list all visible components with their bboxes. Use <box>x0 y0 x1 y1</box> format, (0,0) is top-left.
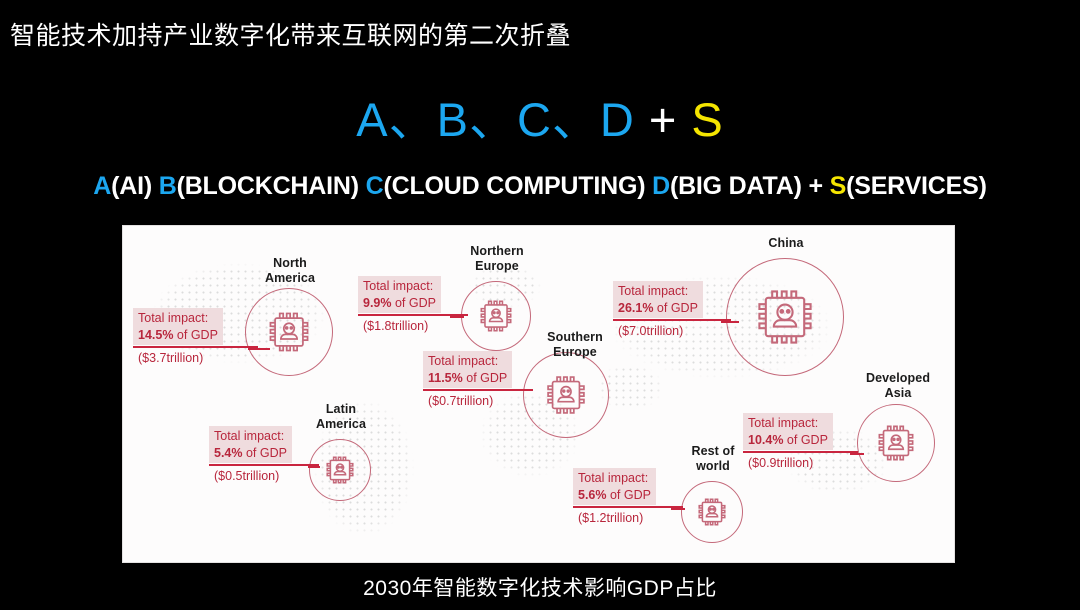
callout-pct: 9.9% <box>363 296 392 310</box>
chart-caption: 2030年智能数字化技术影响GDP占比 <box>0 572 1080 602</box>
callout-pct-suffix: of GDP <box>173 328 217 342</box>
expansion-letter-d: D <box>652 172 670 200</box>
callout-pct: 11.5% <box>428 371 463 385</box>
bubble-northern-europe[interactable] <box>461 281 531 351</box>
bubble-developed-asia[interactable] <box>857 404 935 482</box>
connector-rest-of-world <box>671 508 685 510</box>
callout-northern-europe[interactable]: Total impact: 9.9% of GDP ($1.8trillion) <box>358 276 468 333</box>
headline-abcds: A、B、C、D + S <box>0 96 1080 143</box>
expansion-letter-c: C <box>366 172 384 200</box>
callout-metric-label: Total impact: <box>428 354 498 368</box>
expansion-letter-s: S <box>830 172 846 200</box>
page-title: 智能技术加持产业数字化带来互联网的第二次折叠 <box>10 16 571 52</box>
callout-value: ($0.9trillion) <box>743 456 858 470</box>
callout-rule <box>573 506 683 508</box>
bubble-southern-europe[interactable] <box>523 352 609 438</box>
headline-sep-3: 、 <box>552 93 600 146</box>
callout-rule <box>133 346 258 348</box>
callout-metric-label: Total impact: <box>138 311 208 325</box>
headline-letter-d: D <box>600 93 635 146</box>
connector-north-america <box>248 348 270 350</box>
chip-icon <box>260 303 318 361</box>
region-label-developed-asia: Developed Asia <box>851 371 945 401</box>
callout-value: ($0.5trillion) <box>209 469 319 483</box>
callout-value: ($1.2trillion) <box>573 511 683 525</box>
headline-letter-b: B <box>437 93 469 146</box>
headline-letter-c: C <box>517 93 552 146</box>
headline-sep-1: 、 <box>389 93 437 146</box>
headline-sep-2: 、 <box>469 93 517 146</box>
callout-metric: Total impact: 5.4% of GDP <box>209 426 292 463</box>
callout-latin-america[interactable]: Total impact: 5.4% of GDP ($0.5trillion) <box>209 426 319 483</box>
callout-metric: Total impact: 26.1% of GDP <box>613 281 703 318</box>
callout-value: ($3.7trillion) <box>133 351 258 365</box>
callout-value: ($0.7trillion) <box>423 394 533 408</box>
chip-icon <box>745 277 825 357</box>
callout-southern-europe[interactable]: Total impact: 11.5% of GDP ($0.7trillion… <box>423 351 533 408</box>
bubble-rest-of-world[interactable] <box>681 481 743 543</box>
connector-northern-europe <box>450 316 464 318</box>
connector-china <box>721 321 739 323</box>
bubble-north-america[interactable] <box>245 288 333 376</box>
expansion-text-a: (AI) <box>111 172 152 200</box>
callout-pct-suffix: of GDP <box>463 371 507 385</box>
expansion-text-d: (BIG DATA) <box>670 172 802 200</box>
callout-rule <box>209 464 319 466</box>
connector-developed-asia <box>850 453 864 455</box>
callout-developed-asia[interactable]: Total impact: 10.4% of GDP ($0.9trillion… <box>743 413 858 470</box>
headline-letter-a: A <box>356 93 388 146</box>
chip-icon <box>538 367 594 423</box>
region-label-northern-europe: Northern Europe <box>453 244 541 274</box>
callout-pct-suffix: of GDP <box>243 446 287 460</box>
callout-value: ($7.0trillion) <box>613 324 731 338</box>
callout-pct: 14.5% <box>138 328 173 342</box>
callout-metric-label: Total impact: <box>363 279 433 293</box>
chip-icon <box>320 450 360 490</box>
callout-metric-label: Total impact: <box>578 471 648 485</box>
region-label-north-america: North America <box>247 256 333 286</box>
callout-rest-of-world[interactable]: Total impact: 5.6% of GDP ($1.2trillion) <box>573 468 683 525</box>
callout-metric-label: Total impact: <box>748 416 818 430</box>
chip-icon <box>473 293 519 339</box>
callout-pct-suffix: of GDP <box>392 296 436 310</box>
callout-metric: Total impact: 5.6% of GDP <box>573 468 656 505</box>
headline-expansion: A(AI) B(BLOCKCHAIN) C(CLOUD COMPUTING) D… <box>0 172 1080 201</box>
callout-metric-label: Total impact: <box>214 429 284 443</box>
chip-icon <box>692 492 732 532</box>
callout-metric-label: Total impact: <box>618 284 688 298</box>
expansion-plus: + <box>808 172 822 200</box>
callout-pct: 10.4% <box>748 433 783 447</box>
callout-rule <box>613 319 731 321</box>
callout-metric: Total impact: 10.4% of GDP <box>743 413 833 450</box>
expansion-text-s: (SERVICES) <box>846 172 987 200</box>
headline-plus: + <box>649 93 677 146</box>
bubble-china[interactable] <box>726 258 844 376</box>
callout-north-america[interactable]: Total impact: 14.5% of GDP ($3.7trillion… <box>133 308 258 365</box>
callout-pct: 5.4% <box>214 446 243 460</box>
callout-pct-suffix: of GDP <box>607 488 651 502</box>
region-label-southern-europe: Southern Europe <box>531 330 619 360</box>
region-label-china: China <box>741 236 831 251</box>
expansion-letter-a: A <box>93 172 111 200</box>
callout-pct: 26.1% <box>618 301 653 315</box>
connector-latin-america <box>308 466 320 468</box>
callout-value: ($1.8trillion) <box>358 319 468 333</box>
gdp-impact-map-panel: North America Northern Europe Southern E… <box>122 225 955 563</box>
callout-pct-suffix: of GDP <box>783 433 827 447</box>
callout-metric: Total impact: 14.5% of GDP <box>133 308 223 345</box>
callout-pct: 5.6% <box>578 488 607 502</box>
headline-letter-s: S <box>691 93 723 146</box>
expansion-text-b: (BLOCKCHAIN) <box>177 172 359 200</box>
callout-rule <box>423 389 533 391</box>
expansion-text-c: (CLOUD COMPUTING) <box>383 172 645 200</box>
callout-metric: Total impact: 11.5% of GDP <box>423 351 512 388</box>
expansion-letter-b: B <box>159 172 177 200</box>
chip-icon <box>870 417 922 469</box>
callout-metric: Total impact: 9.9% of GDP <box>358 276 441 313</box>
callout-rule <box>743 451 858 453</box>
callout-pct-suffix: of GDP <box>653 301 697 315</box>
callout-china[interactable]: Total impact: 26.1% of GDP ($7.0trillion… <box>613 281 731 338</box>
